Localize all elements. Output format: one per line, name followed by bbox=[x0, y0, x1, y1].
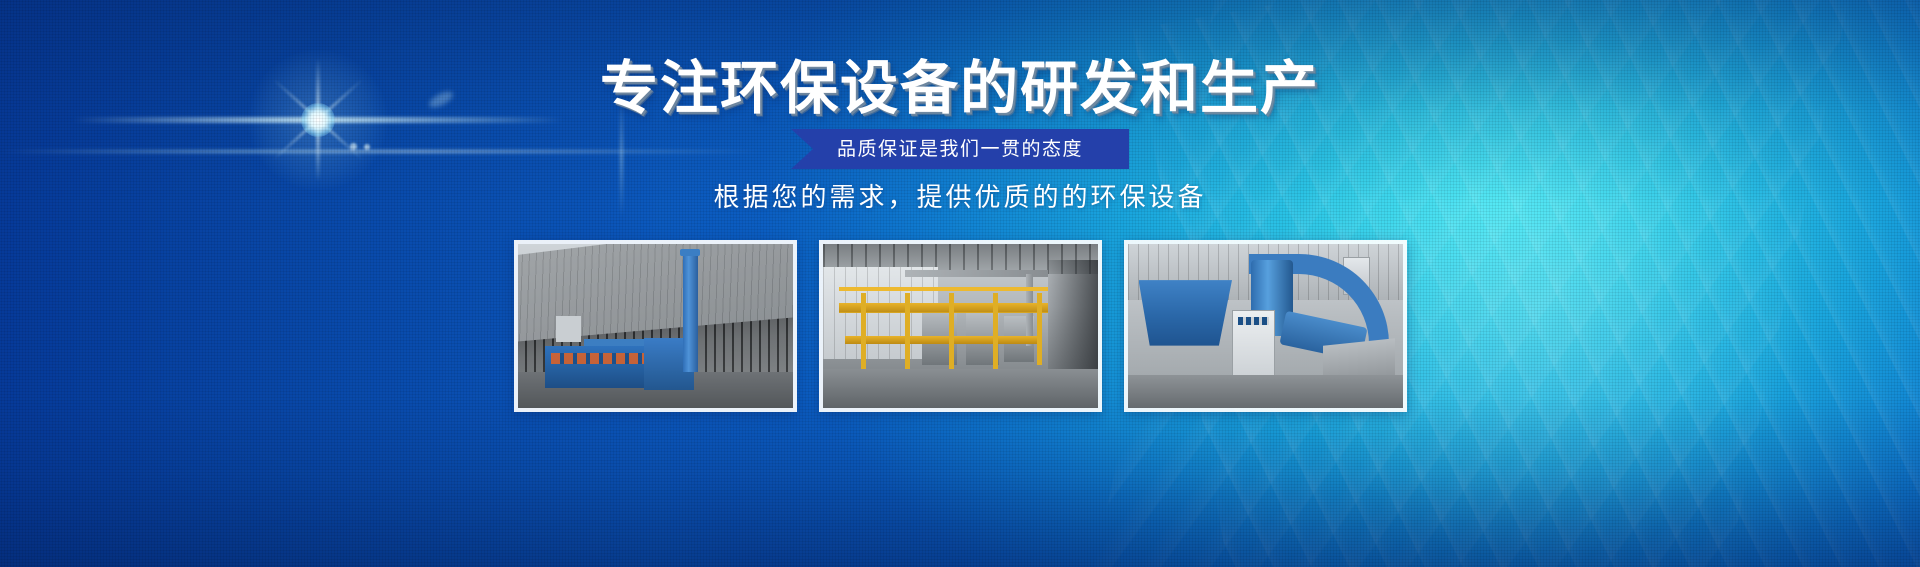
photo-plant-interior bbox=[819, 240, 1102, 412]
promo-banner: 专注环保设备的研发和生产 品质保证是我们一贯的态度 根据您的需求，提供优质的的环… bbox=[0, 0, 1920, 567]
banner-subline: 根据您的需求，提供优质的的环保设备 bbox=[0, 177, 1920, 214]
photo-workshop-exterior bbox=[514, 240, 797, 412]
badge-tail-icon bbox=[1103, 129, 1129, 169]
banner-headline: 专注环保设备的研发和生产 bbox=[0, 57, 1920, 120]
quality-badge-label: 品质保证是我们一贯的态度 bbox=[837, 138, 1083, 160]
badge-container: 品质保证是我们一贯的态度 bbox=[0, 129, 1920, 169]
photo-gallery bbox=[0, 240, 1920, 412]
photo-cyclone-system bbox=[1124, 240, 1407, 412]
quality-badge: 品质保证是我们一贯的态度 bbox=[791, 129, 1129, 169]
